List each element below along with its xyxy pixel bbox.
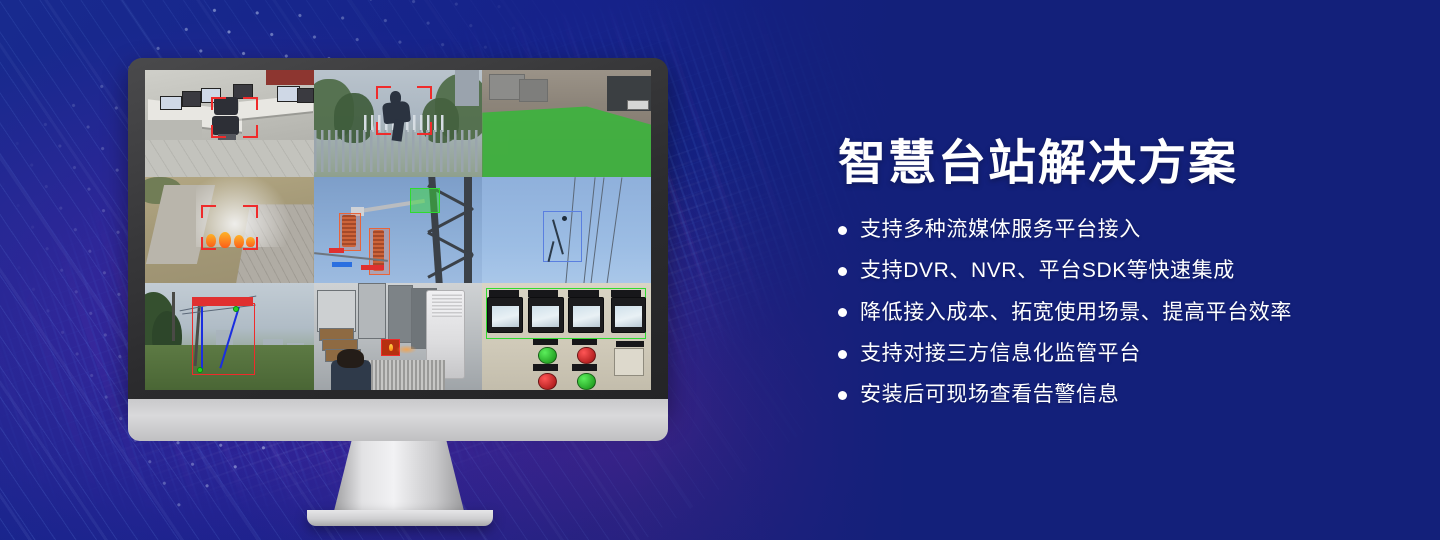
bullet-dot-icon <box>838 226 847 235</box>
monitor-stand-neck <box>333 441 465 515</box>
feature-text: 安装后可现场查看告警信息 <box>860 382 1119 408</box>
feature-list: 支持多种流媒体服务平台接入 支持DVR、NVR、平台SDK等快速集成 降低接入成… <box>838 217 1398 408</box>
bullet-dot-icon <box>838 267 847 276</box>
list-item: 支持对接三方信息化监管平台 <box>838 341 1398 367</box>
banner-content: 智慧台站解决方案 支持多种流媒体服务平台接入 支持DVR、NVR、平台SDK等快… <box>838 136 1398 423</box>
desktop-monitor <box>128 58 668 488</box>
video-feed-fence-intrusion[interactable] <box>314 70 483 177</box>
video-feed-outdoor-yard[interactable] <box>482 70 651 177</box>
bullet-dot-icon <box>838 391 847 400</box>
video-wall-screen <box>145 70 651 390</box>
bullet-dot-icon <box>838 308 847 317</box>
bullet-dot-icon <box>838 350 847 359</box>
list-item: 支持多种流媒体服务平台接入 <box>838 217 1398 243</box>
list-item: 降低接入成本、拓宽使用场景、提高平台效率 <box>838 300 1398 326</box>
feature-text: 支持对接三方信息化监管平台 <box>860 341 1141 367</box>
video-feed-foreign-object[interactable] <box>482 177 651 284</box>
video-feed-equipment-room[interactable] <box>314 283 483 390</box>
feature-text: 支持DVR、NVR、平台SDK等快速集成 <box>860 258 1235 284</box>
video-feed-control-panel[interactable] <box>482 283 651 390</box>
video-feed-transmission-tower[interactable] <box>314 177 483 284</box>
video-feed-control-room[interactable] <box>145 70 314 177</box>
monitor-stand-base <box>307 510 493 526</box>
video-feed-pole-tilt[interactable] <box>145 283 314 390</box>
feature-text: 支持多种流媒体服务平台接入 <box>860 217 1141 243</box>
monitor-chin <box>128 399 668 441</box>
list-item: 安装后可现场查看告警信息 <box>838 382 1398 408</box>
list-item: 支持DVR、NVR、平台SDK等快速集成 <box>838 258 1398 284</box>
page-title: 智慧台站解决方案 <box>838 136 1398 191</box>
solution-banner: 智慧台站解决方案 支持多种流媒体服务平台接入 支持DVR、NVR、平台SDK等快… <box>0 0 1440 540</box>
video-feed-fire-detection[interactable] <box>145 177 314 284</box>
feature-text: 降低接入成本、拓宽使用场景、提高平台效率 <box>860 300 1292 326</box>
